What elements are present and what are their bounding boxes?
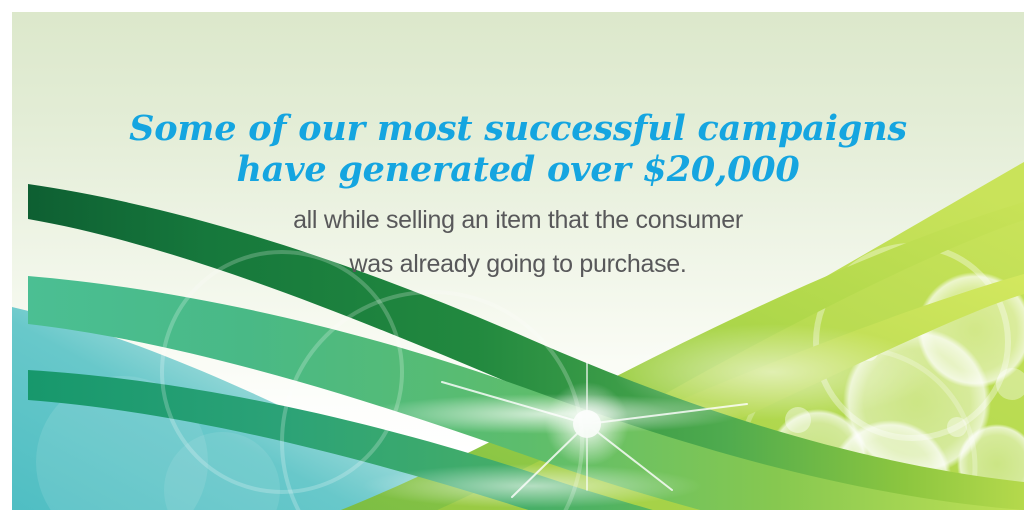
artwork-canvas — [12, 12, 1024, 510]
sheen-highlight — [612, 324, 932, 420]
promo-banner: Some of our most successful campaigns ha… — [0, 0, 1036, 522]
sheen-highlight — [362, 464, 702, 508]
decorative-wave-artwork — [12, 12, 1024, 510]
